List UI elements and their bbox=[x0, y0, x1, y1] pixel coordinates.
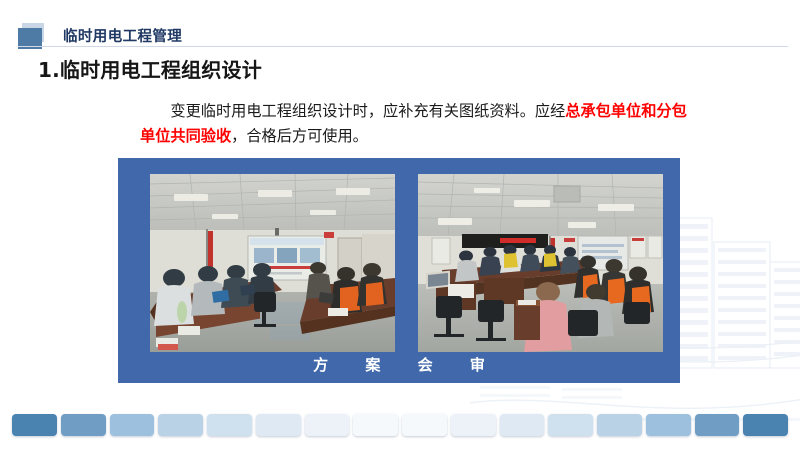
footer-tile bbox=[353, 414, 398, 436]
header-title: 临时用电工程管理 bbox=[63, 25, 182, 46]
footer-tile bbox=[695, 414, 740, 436]
footer-tile bbox=[158, 414, 203, 436]
footer-tile bbox=[451, 414, 496, 436]
footer-tile bbox=[110, 414, 155, 436]
footer-tile bbox=[256, 414, 301, 436]
slide-canvas: 临时用电工程管理 1.临时用电工程组织设计 变更临时用电工程组织设计时，应补充有… bbox=[0, 0, 800, 450]
body-text-part1: 变更临时用电工程组织设计时，应补充有关图纸资料。应经 bbox=[170, 102, 565, 120]
footer-tile bbox=[597, 414, 642, 436]
footer-tile-bar bbox=[0, 412, 800, 438]
header-divider bbox=[18, 46, 788, 47]
body-paragraph: 变更临时用电工程组织设计时，应补充有关图纸资料。应经总承包单位和分包单位共同验收… bbox=[140, 99, 688, 149]
footer-tile bbox=[646, 414, 691, 436]
footer-tile bbox=[61, 414, 106, 436]
meeting-room-photo-right bbox=[418, 174, 663, 352]
footer-tile bbox=[500, 414, 545, 436]
page-title: 1.临时用电工程组织设计 bbox=[38, 54, 262, 83]
image-panel: 方 案 会 审 bbox=[118, 158, 680, 383]
footer-tile bbox=[402, 414, 447, 436]
slide-header: 临时用电工程管理 bbox=[0, 12, 800, 48]
footer-tile bbox=[548, 414, 593, 436]
footer-tile bbox=[743, 414, 788, 436]
footer-tile bbox=[305, 414, 350, 436]
body-text-part2: ，合格后方可使用。 bbox=[231, 127, 368, 145]
panel-caption: 方 案 会 审 bbox=[118, 354, 680, 375]
meeting-room-photo-left bbox=[150, 174, 395, 352]
footer-tile bbox=[12, 414, 57, 436]
footer-tile bbox=[207, 414, 252, 436]
